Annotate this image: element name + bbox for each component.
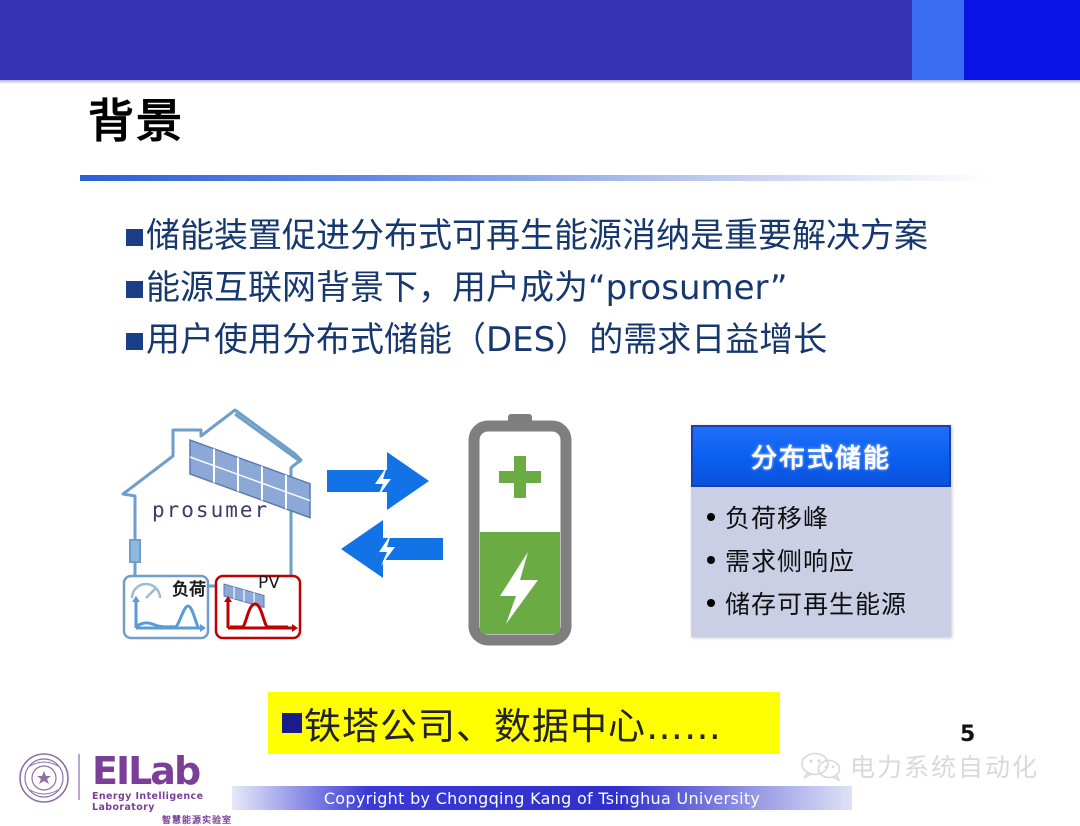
arrow-left-icon xyxy=(341,520,443,578)
bullet-item: 能源互联网背景下，用户成为“prosumer” xyxy=(126,266,1026,311)
bullet-text: 储能装置促进分布式可再生能源消纳是重要解决方案 xyxy=(146,214,928,259)
dot-bullet-icon xyxy=(707,513,715,521)
header-band-light-stripe xyxy=(912,0,964,80)
square-bullet-icon xyxy=(126,229,143,246)
eilab-logo: EILab Energy Intelligence Laboratory 智慧能… xyxy=(92,752,232,826)
highlight-callout: 铁塔公司、数据中心…… xyxy=(268,692,780,754)
watermark-text: 电力系统自动化 xyxy=(850,748,1039,784)
wechat-watermark: 电力系统自动化 xyxy=(800,748,1039,784)
page-number: 5 xyxy=(960,722,975,747)
panel-list-item: 需求侧响应 xyxy=(707,542,951,578)
dot-bullet-icon xyxy=(707,556,715,564)
wechat-icon xyxy=(800,751,842,781)
highlight-text: 铁塔公司、数据中心…… xyxy=(304,696,722,750)
bullet-list: 储能装置促进分布式可再生能源消纳是重要解决方案 能源互联网背景下，用户成为“pr… xyxy=(126,214,1026,370)
panel-list-item: 负荷移峰 xyxy=(707,499,951,535)
eilab-wordmark: EILab xyxy=(92,752,232,790)
panel-item-label: 负荷移峰 xyxy=(725,499,829,535)
header-band-right-block xyxy=(964,0,1080,80)
bullet-item: 用户使用分布式储能（DES）的需求日益增长 xyxy=(126,318,1026,363)
title-divider-rule xyxy=(80,175,990,181)
page-title: 背景 xyxy=(88,96,184,147)
pv-chart-label: PV xyxy=(258,573,280,593)
bullet-text: 用户使用分布式储能（DES）的需求日益增长 xyxy=(146,318,827,363)
panel-item-label: 储存可再生能源 xyxy=(725,585,907,621)
square-bullet-icon xyxy=(126,333,143,350)
header-band-main xyxy=(0,0,912,80)
panel-body: 负荷移峰 需求侧响应 储存可再生能源 xyxy=(691,487,951,621)
tsinghua-seal-logo xyxy=(18,752,70,804)
square-bullet-icon xyxy=(126,281,143,298)
panel-header: 分布式储能 xyxy=(691,425,951,487)
load-chart-label: 负荷 xyxy=(172,575,206,600)
panel-header-text: 分布式储能 xyxy=(751,438,891,475)
footer-divider xyxy=(78,754,80,800)
eilab-subtitle-cn: 智慧能源实验室 xyxy=(92,813,232,826)
copyright-bar: Copyright by Chongqing Kang of Tsinghua … xyxy=(232,786,852,810)
copyright-text: Copyright by Chongqing Kang of Tsinghua … xyxy=(324,789,760,808)
header-band xyxy=(0,0,1080,80)
panel-list-item: 储存可再生能源 xyxy=(707,585,951,621)
bullet-text: 能源互联网背景下，用户成为“prosumer” xyxy=(146,266,788,311)
dot-bullet-icon xyxy=(707,599,715,607)
energy-flow-arrows xyxy=(325,448,445,593)
arrow-right-icon xyxy=(327,452,429,510)
house-label: prosumer xyxy=(152,498,269,522)
panel-item-label: 需求侧响应 xyxy=(725,542,855,578)
house-side-box xyxy=(130,540,140,562)
square-bullet-icon xyxy=(282,713,302,733)
distributed-storage-panel: 分布式储能 负荷移峰 需求侧响应 储存可再生能源 xyxy=(691,425,951,637)
bullet-item: 储能装置促进分布式可再生能源消纳是重要解决方案 xyxy=(126,214,1026,259)
header-band-shadow xyxy=(0,80,1080,84)
battery-illustration xyxy=(460,412,580,652)
